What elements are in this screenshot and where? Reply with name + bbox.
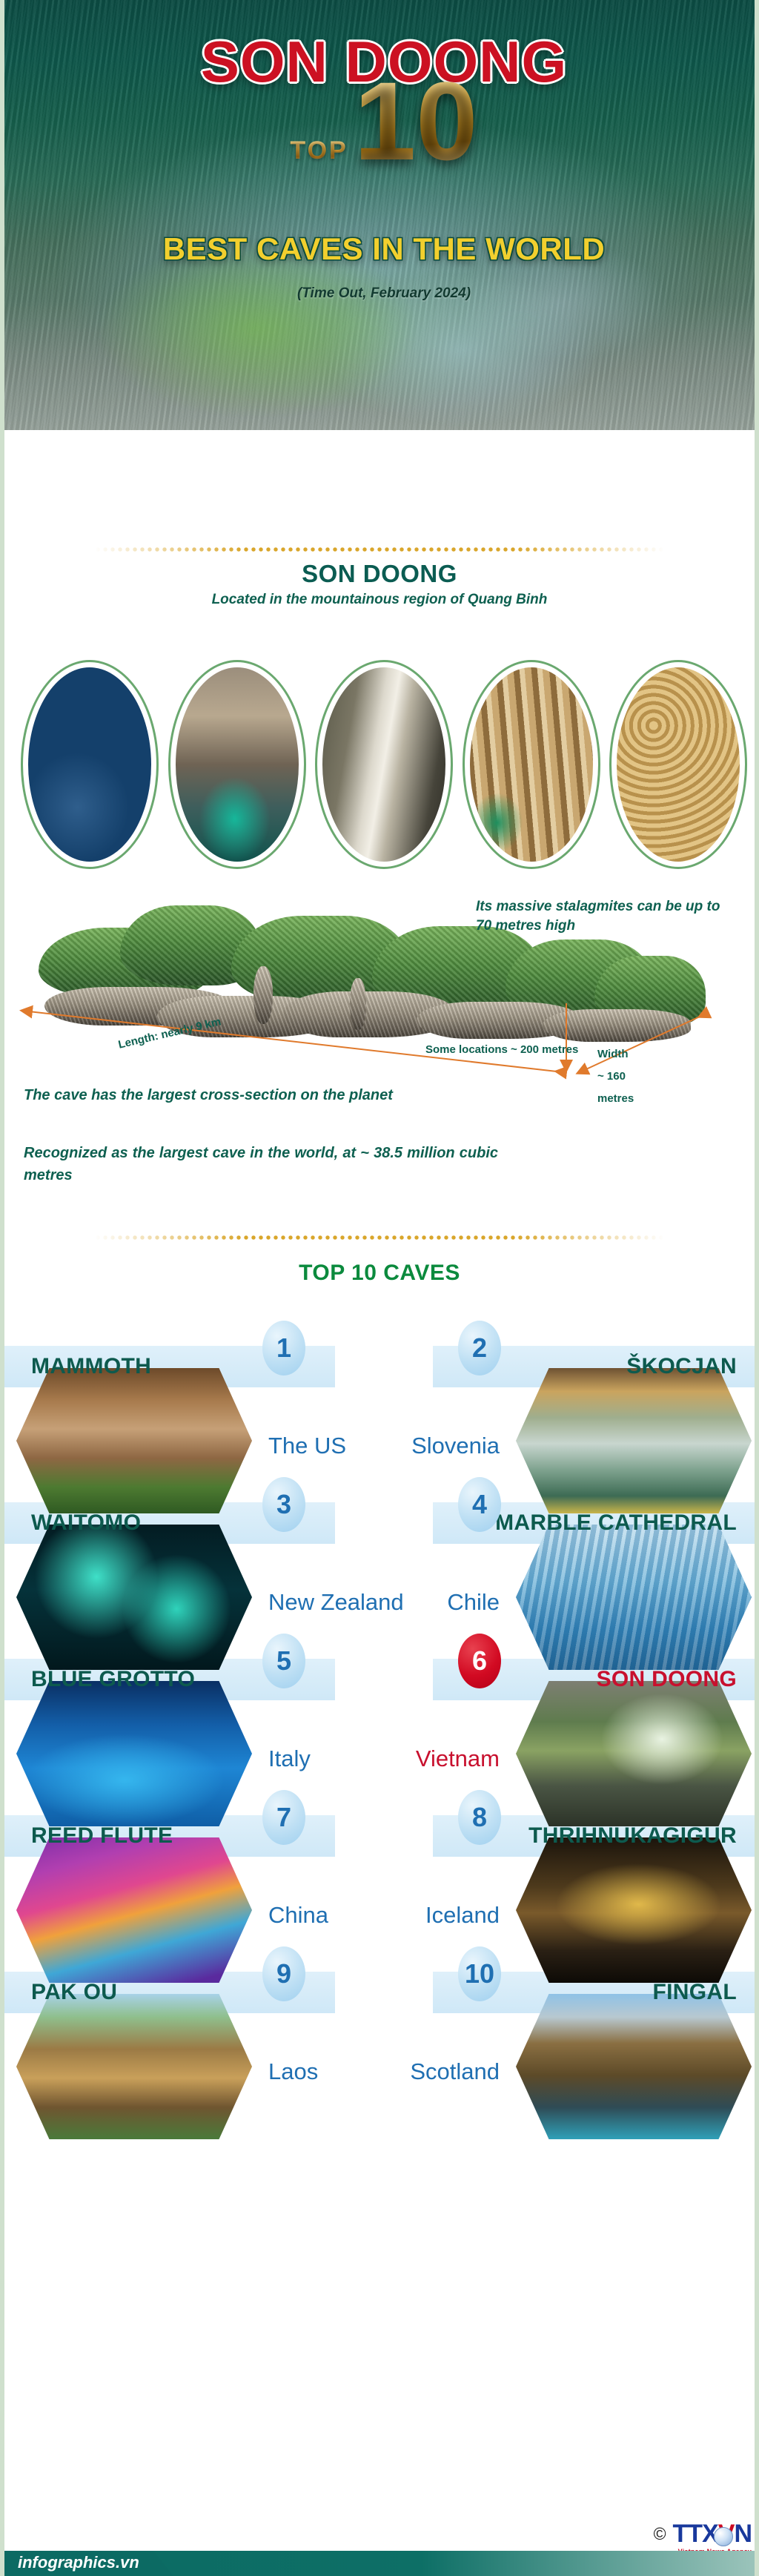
band-gap xyxy=(352,1815,416,1857)
gallery-oval-1 xyxy=(21,660,159,869)
cave-photo xyxy=(516,1681,752,1826)
width-label: Width ~ 160 metres xyxy=(597,1043,634,1110)
globe-icon xyxy=(714,2527,733,2546)
gallery-oval-3 xyxy=(315,660,453,869)
divider-dots-top xyxy=(4,546,755,553)
cave-rank-badge: 2 xyxy=(458,1321,501,1375)
stalagmite-note: Its massive stalagmites can be up to 70 … xyxy=(476,897,728,935)
width-label-line-1: Width xyxy=(597,1043,634,1066)
cave-name: WAITOMO xyxy=(31,1502,141,1544)
cave-name: THRIHNUKAGIGUR xyxy=(528,1815,737,1857)
ttxvn-logo-text-1: TTX xyxy=(673,2520,718,2548)
cave-country: Vietnam xyxy=(351,1746,500,1771)
fact-volume: Recognized as the largest cave in the wo… xyxy=(24,1142,498,1186)
cave-photo xyxy=(516,1994,752,2139)
son-doong-gallery xyxy=(21,660,747,875)
top-number: 10 xyxy=(354,71,478,171)
cave-waterfall-photo xyxy=(322,667,445,862)
hero-subtitle: BEST CAVES IN THE WORLD xyxy=(4,231,759,267)
cave-rank-badge: 6 xyxy=(458,1634,501,1688)
footer: © TTXVN Vietnam News Agency infographics… xyxy=(4,2530,759,2576)
width-label-line-3: metres xyxy=(597,1088,634,1110)
cave-rank-badge: 3 xyxy=(262,1477,305,1532)
height-label: Some locations ~ 200 metres xyxy=(425,1043,578,1056)
top10-section-title: TOP 10 CAVES xyxy=(4,1261,755,1286)
cave-photo xyxy=(16,1681,252,1826)
gallery-oval-2 xyxy=(168,660,306,869)
hero-source: (Time Out, February 2024) xyxy=(4,285,759,302)
ttxvn-logo: TTXVN Vietnam News Agency xyxy=(673,2521,752,2546)
top-word: TOP xyxy=(290,136,348,165)
cave-photo xyxy=(16,1994,252,2139)
divider-dots-bottom xyxy=(4,1234,755,1241)
cave-rank-badge: 4 xyxy=(458,1477,501,1532)
cave-rank-badge: 9 xyxy=(262,1946,305,2001)
cave-rank-badge: 1 xyxy=(262,1321,305,1375)
cave-photo xyxy=(16,1525,252,1670)
cave-entrance-jungle-photo xyxy=(28,667,151,862)
ttxvn-logo-text-2: N xyxy=(734,2520,752,2548)
cave-name: SON DOONG xyxy=(597,1659,737,1700)
cave-country: Chile xyxy=(351,1590,500,1614)
band-gap xyxy=(352,1659,416,1700)
cave-country: Scotland xyxy=(351,2059,500,2084)
cave-photo xyxy=(16,1368,252,1513)
cave-photo xyxy=(516,1525,752,1670)
width-label-line-2: ~ 160 xyxy=(597,1066,634,1088)
cave-rank-badge: 5 xyxy=(262,1634,305,1688)
top10-caves-list: MAMMOTH ŠKOCJAN 1 2 The US Slovenia WAIT… xyxy=(4,1294,759,2076)
band-gap xyxy=(352,1972,416,2013)
cave-name: FINGAL xyxy=(653,1972,737,2013)
cave-chamber-explorer-photo xyxy=(176,667,299,862)
cave-rank-badge: 7 xyxy=(262,1790,305,1845)
hero-banner: SON DOONG TOP 10 BEST CAVES IN THE WORLD… xyxy=(4,0,759,430)
gallery-oval-5 xyxy=(609,660,747,869)
copyright-icon: © xyxy=(654,2524,666,2544)
fact-cross-section: The cave has the largest cross-section o… xyxy=(24,1087,498,1104)
copyright-credit: © TTXVN Vietnam News Agency xyxy=(654,2521,752,2546)
cave-rank-badge: 8 xyxy=(458,1790,501,1845)
cave-country: Iceland xyxy=(351,1903,500,1927)
cave-name: MAMMOTH xyxy=(31,1346,151,1387)
cave-name: ŠKOCJAN xyxy=(626,1346,737,1387)
cave-country: Slovenia xyxy=(351,1433,500,1458)
cave-name: PAK OU xyxy=(31,1972,117,2013)
gallery-oval-4 xyxy=(463,660,600,869)
cave-name: MARBLE CATHEDRAL xyxy=(495,1502,737,1544)
cave-name: BLUE GROTTO xyxy=(31,1659,195,1700)
stalagmite-column-photo xyxy=(470,667,593,862)
cave-photo xyxy=(516,1837,752,1983)
cave-pearls-texture-photo xyxy=(617,667,740,862)
cave-photo xyxy=(16,1837,252,1983)
cave-name: REED FLUTE xyxy=(31,1815,173,1857)
band-gap xyxy=(352,1346,416,1387)
infographic-page: SON DOONG TOP 10 BEST CAVES IN THE WORLD… xyxy=(0,0,759,2576)
cave-photo xyxy=(516,1368,752,1513)
footer-site-label: infographics.vn xyxy=(18,2553,139,2572)
band-gap xyxy=(352,1502,416,1544)
cave-rank-badge: 10 xyxy=(458,1946,501,2001)
cave-cross-section-diagram: Its massive stalagmites can be up to 70 … xyxy=(4,879,759,1109)
top10-badge: TOP 10 xyxy=(4,71,759,171)
son-doong-subheading: Located in the mountainous region of Qua… xyxy=(4,592,755,608)
son-doong-heading: SON DOONG xyxy=(4,560,755,588)
cave-row: MAMMOTH ŠKOCJAN 1 2 The US Slovenia xyxy=(4,1294,759,1450)
